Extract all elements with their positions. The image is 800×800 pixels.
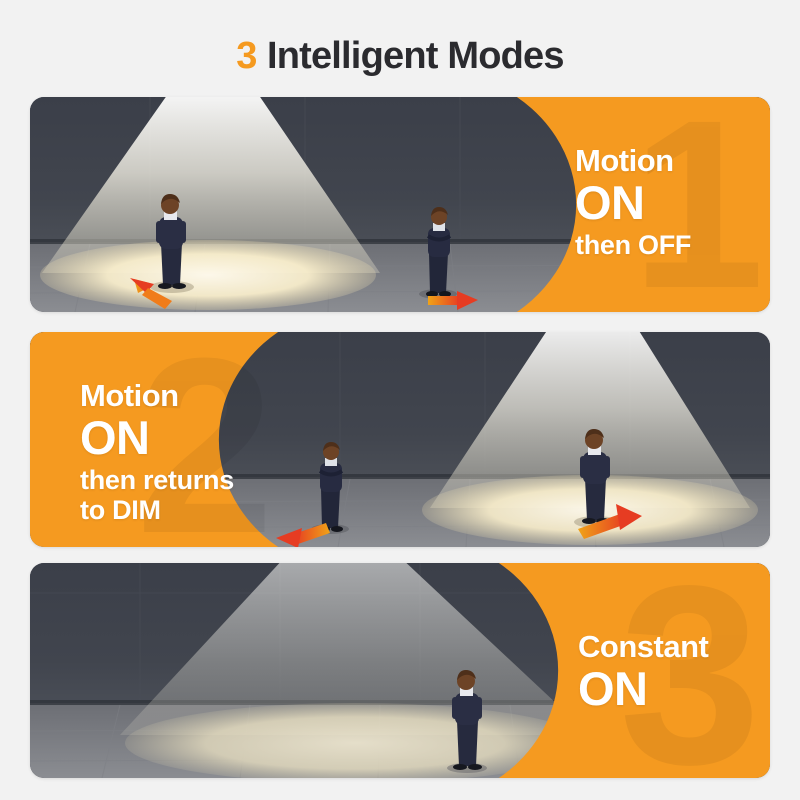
mode-caption-3: Constant ON <box>578 631 708 712</box>
mode-caption-2: Motion ON then returns to DIM <box>80 380 234 524</box>
caption-line-2: ON <box>575 179 691 226</box>
caption-line-3: then OFF <box>575 232 691 259</box>
caption-line-1: Motion <box>575 145 691 176</box>
mode-caption-1: Motion ON then OFF <box>575 145 691 259</box>
mode-panel-3[interactable]: 3 Constant ON <box>30 563 770 778</box>
title-count: 3 <box>236 37 257 75</box>
caption-line-2: ON <box>80 414 234 461</box>
mode-panel-2[interactable]: 2 Motion ON then returns to DIM <box>30 332 770 547</box>
caption-line-2: ON <box>578 665 708 712</box>
infographic-page: 3 Intelligent Modes <box>0 0 800 800</box>
caption-line-4: to DIM <box>80 497 234 524</box>
caption-line-3: then returns <box>80 467 234 494</box>
page-title: 3 Intelligent Modes <box>0 30 800 82</box>
title-label: Intelligent Modes <box>267 37 564 75</box>
caption-line-1: Constant <box>578 631 708 662</box>
mode-panel-1[interactable]: 1 Motion ON then OFF <box>30 97 770 312</box>
caption-line-1: Motion <box>80 380 234 411</box>
